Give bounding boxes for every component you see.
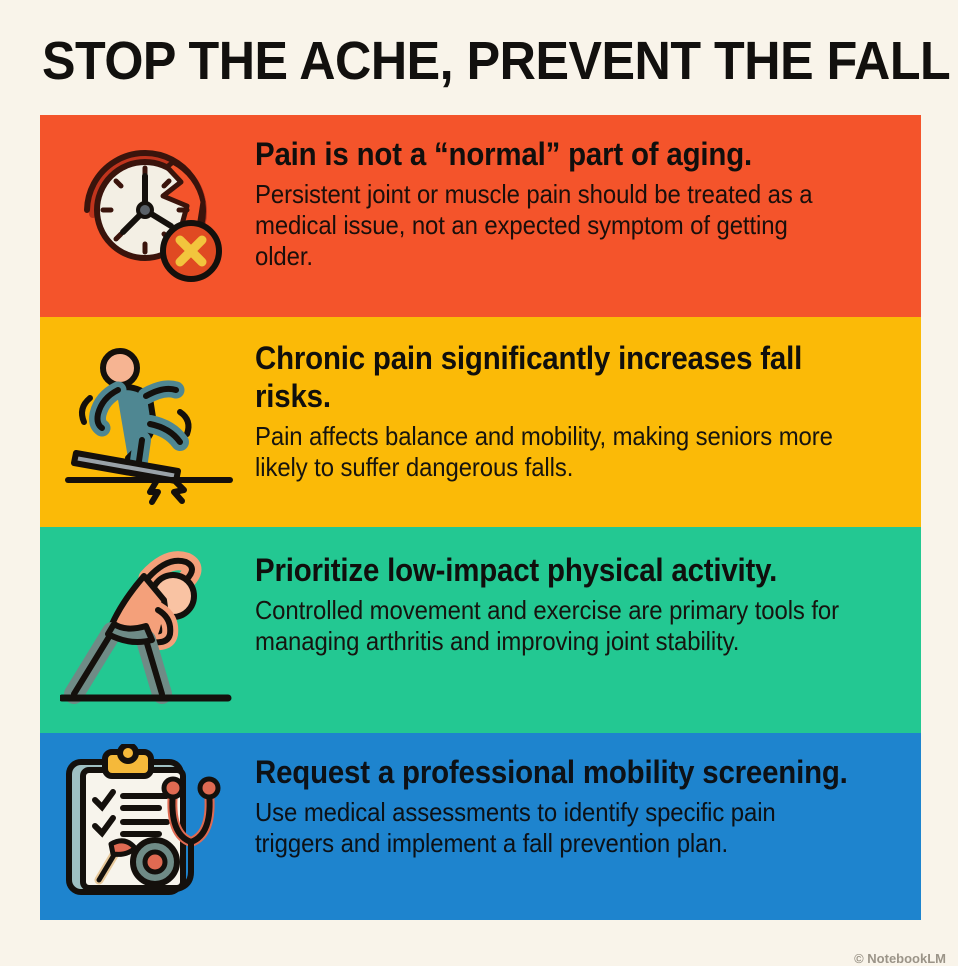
tip-band-4: Request a professional mobility screenin… [40, 733, 921, 920]
tip-band-3: Prioritize low-impact physical activity.… [40, 527, 921, 733]
tip-body-2: Pain affects balance and mobility, makin… [255, 421, 851, 483]
tip-heading-2: Chronic pain significantly increases fal… [255, 339, 851, 415]
tip-heading-1: Pain is not a “normal” part of aging. [255, 135, 851, 173]
tip-text-1: Pain is not a “normal” part of aging. Pe… [255, 115, 921, 272]
clipboard-stethoscope-icon [40, 733, 255, 920]
tip-band-1: Pain is not a “normal” part of aging. Pe… [40, 115, 921, 317]
tip-heading-4: Request a professional mobility screenin… [255, 753, 851, 791]
falling-person-icon [40, 317, 255, 527]
tip-heading-3: Prioritize low-impact physical activity. [255, 551, 851, 589]
infographic-poster: STOP THE ACHE, PREVENT THE FALL [0, 0, 958, 962]
page-title: STOP THE ACHE, PREVENT THE FALL [42, 32, 860, 90]
stretching-person-icon [40, 527, 255, 733]
tip-text-3: Prioritize low-impact physical activity.… [255, 527, 921, 657]
watermark: © NotebookLM [854, 951, 946, 966]
tip-body-4: Use medical assessments to identify spec… [255, 797, 851, 859]
tip-band-2: Chronic pain significantly increases fal… [40, 317, 921, 527]
tip-body-1: Persistent joint or muscle pain should b… [255, 179, 851, 272]
tip-body-3: Controlled movement and exercise are pri… [255, 595, 851, 657]
tip-text-4: Request a professional mobility screenin… [255, 733, 921, 859]
broken-clock-icon [40, 115, 255, 317]
tip-text-2: Chronic pain significantly increases fal… [255, 317, 921, 483]
